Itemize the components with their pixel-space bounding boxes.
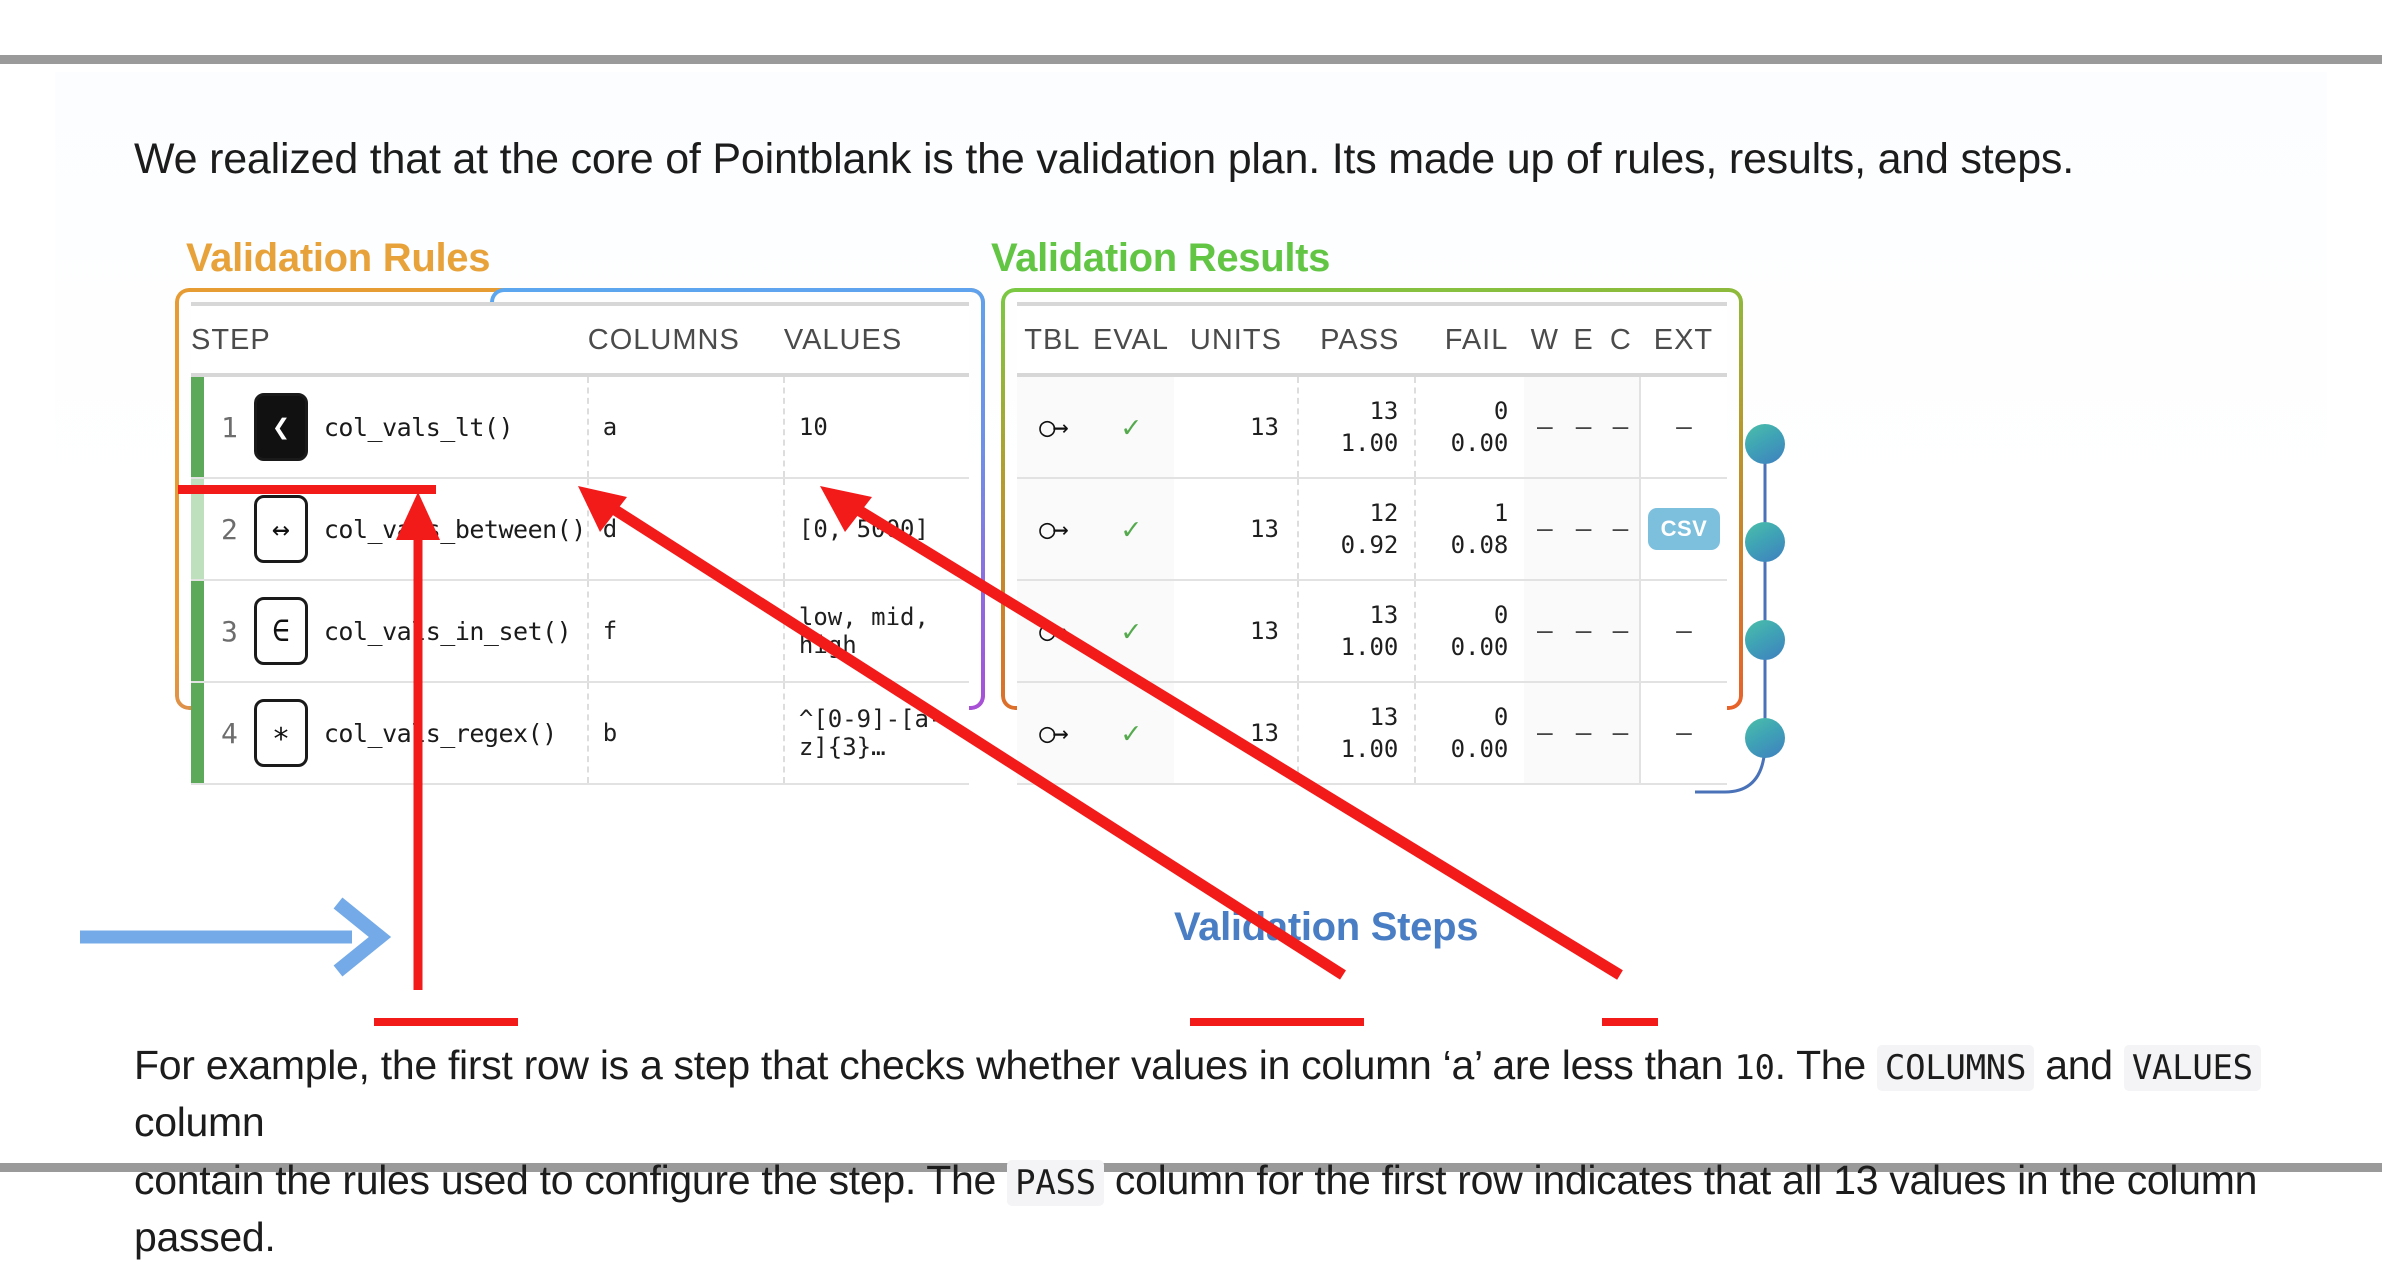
cell-step: 2↔col_vals_between() (191, 478, 588, 580)
cell-columns: a (588, 375, 784, 478)
table-row[interactable]: 3∈col_vals_in_set()flow, mid, high (191, 580, 969, 682)
intro-paragraph: We realized that at the core of Pointbla… (134, 135, 2234, 184)
cell-step: 4∗col_vals_regex() (191, 682, 588, 784)
rule-function-name: col_vals_regex() (324, 719, 557, 748)
cell-w: — (1524, 478, 1565, 580)
explanatory-paragraph: For example, the first row is a step tha… (134, 1037, 2364, 1267)
cell-c: — (1602, 580, 1640, 682)
cell-pass: 131.00 (1298, 580, 1415, 682)
table-row[interactable]: 1❮col_vals_lt()a10 (191, 375, 969, 478)
cell-pass: 131.00 (1298, 682, 1415, 784)
cell-columns: d (588, 478, 784, 580)
col-header-units: UNITS (1174, 304, 1298, 375)
cell-e: — (1565, 682, 1602, 784)
para-highlight-column-a: column ‘a’ (1301, 1042, 1481, 1088)
rule-function-name: col_vals_between() (324, 515, 586, 544)
cell-pass: 131.00 (1298, 375, 1415, 478)
col-header-eval: EVAL (1088, 304, 1175, 375)
group-title-validation-results: Validation Results (991, 236, 1330, 281)
step-node-3[interactable] (1745, 620, 1785, 660)
table-row[interactable]: 4∗col_vals_regex()b^[0-9]-[a-z]{3}… (191, 682, 969, 784)
regex-asterisk-icon: ∗ (254, 699, 308, 767)
step-number: 2 (221, 513, 238, 546)
cell-pass: 120.92 (1298, 478, 1415, 580)
col-header-tbl: TBL (1017, 304, 1088, 375)
cell-eval: ✓ (1088, 580, 1175, 682)
table-row[interactable]: ○→✓13120.9210.08———CSV (1017, 478, 1727, 580)
table-row[interactable]: 2↔col_vals_between()d[0, 5000] (191, 478, 969, 580)
table-row[interactable]: ○→✓13131.0000.00———— (1017, 375, 1727, 478)
step-node-4[interactable] (1745, 718, 1785, 758)
cell-tbl: ○→ (1017, 580, 1088, 682)
paragraph-line-1: For example, the first row is a step tha… (134, 1037, 2364, 1152)
col-header-w: W (1524, 304, 1565, 375)
element-of-icon: ∈ (254, 597, 308, 665)
col-header-values: VALUES (784, 304, 969, 375)
less-than-icon: ❮ (254, 393, 308, 461)
group-title-validation-rules: Validation Rules (186, 236, 490, 281)
para-text-e: and (2034, 1042, 2124, 1088)
cell-eval: ✓ (1088, 375, 1175, 478)
validation-results-table: TBL EVAL UNITS PASS FAIL W E C EXT ○→✓13… (1017, 302, 1727, 785)
cell-values: ^[0-9]-[a-z]{3}… (784, 682, 969, 784)
validation-rules-table: STEP COLUMNS VALUES 1❮col_vals_lt()a102↔… (191, 302, 969, 785)
table-row[interactable]: ○→✓13131.0000.00———— (1017, 580, 1727, 682)
cell-c: — (1602, 375, 1640, 478)
rule-function-name: col_vals_lt() (324, 413, 513, 442)
col-header-step: STEP (191, 304, 588, 375)
para-code-columns: COLUMNS (1877, 1045, 2034, 1091)
cell-w: — (1524, 682, 1565, 784)
between-range-icon: ↔ (254, 495, 308, 563)
col-header-fail: FAIL (1415, 304, 1524, 375)
cell-fail: 10.08 (1415, 478, 1524, 580)
cell-fail: 00.00 (1415, 580, 1524, 682)
para-code-pass: PASS (1007, 1160, 1104, 1206)
col-header-pass: PASS (1298, 304, 1415, 375)
step-cell-content: 2↔col_vals_between() (191, 495, 586, 563)
cell-fail: 00.00 (1415, 682, 1524, 784)
cell-values: low, mid, high (784, 580, 969, 682)
step-node-1[interactable] (1745, 424, 1785, 464)
cell-w: — (1524, 580, 1565, 682)
step-node-2[interactable] (1745, 522, 1785, 562)
col-header-c: C (1602, 304, 1640, 375)
para-text-c: are less than (1481, 1042, 1734, 1088)
col-header-e: E (1565, 304, 1602, 375)
step-cell-content: 4∗col_vals_regex() (191, 699, 586, 767)
cell-values: 10 (784, 375, 969, 478)
top-divider-rule (0, 55, 2382, 64)
table-header-row: TBL EVAL UNITS PASS FAIL W E C EXT (1017, 304, 1727, 375)
step-number: 3 (221, 615, 238, 648)
step-number: 1 (221, 411, 238, 444)
paragraph-line-2: contain the rules used to configure the … (134, 1152, 2364, 1267)
step-cell-content: 1❮col_vals_lt() (191, 393, 586, 461)
slide-card: We realized that at the core of Pointbla… (55, 72, 2327, 1157)
cell-columns: f (588, 580, 784, 682)
cell-eval: ✓ (1088, 682, 1175, 784)
cell-w: — (1524, 375, 1565, 478)
cell-values: [0, 5000] (784, 478, 969, 580)
cell-step: 1❮col_vals_lt() (191, 375, 588, 478)
rule-function-name: col_vals_in_set() (324, 617, 571, 646)
step-cell-content: 3∈col_vals_in_set() (191, 597, 586, 665)
cell-units: 13 (1174, 580, 1298, 682)
para-text-g: contain the rules used to configure the … (134, 1157, 1007, 1203)
group-title-validation-steps: Validation Steps (1174, 905, 1478, 950)
cell-tbl: ○→ (1017, 682, 1088, 784)
cell-e: — (1565, 478, 1602, 580)
validation-plan-diagram: Validation Rules Validation Results Vali… (55, 212, 2327, 1002)
cell-units: 13 (1174, 478, 1298, 580)
cell-e: — (1565, 580, 1602, 682)
para-text-f: column (134, 1099, 264, 1145)
cell-c: — (1602, 682, 1640, 784)
cell-units: 13 (1174, 682, 1298, 784)
cell-columns: b (588, 682, 784, 784)
cell-eval: ✓ (1088, 478, 1175, 580)
para-text-a: For example, the (134, 1042, 448, 1088)
table-header-row: STEP COLUMNS VALUES (191, 304, 969, 375)
para-text-b: is a step that checks whether values in (589, 1042, 1301, 1088)
para-text-d: . The (1775, 1042, 1877, 1088)
cell-tbl: ○→ (1017, 478, 1088, 580)
para-highlight-first-row: first row (448, 1042, 589, 1088)
para-code-values: VALUES (2124, 1045, 2261, 1091)
para-highlight-ten: 10 (1734, 1048, 1774, 1088)
cell-c: — (1602, 478, 1640, 580)
cell-step: 3∈col_vals_in_set() (191, 580, 588, 682)
cell-tbl: ○→ (1017, 375, 1088, 478)
cell-units: 13 (1174, 375, 1298, 478)
col-header-columns: COLUMNS (588, 304, 784, 375)
cell-fail: 00.00 (1415, 375, 1524, 478)
cell-e: — (1565, 375, 1602, 478)
validation-steps-connector (1695, 272, 2115, 952)
step-number: 4 (221, 717, 238, 750)
table-row[interactable]: ○→✓13131.0000.00———— (1017, 682, 1727, 784)
